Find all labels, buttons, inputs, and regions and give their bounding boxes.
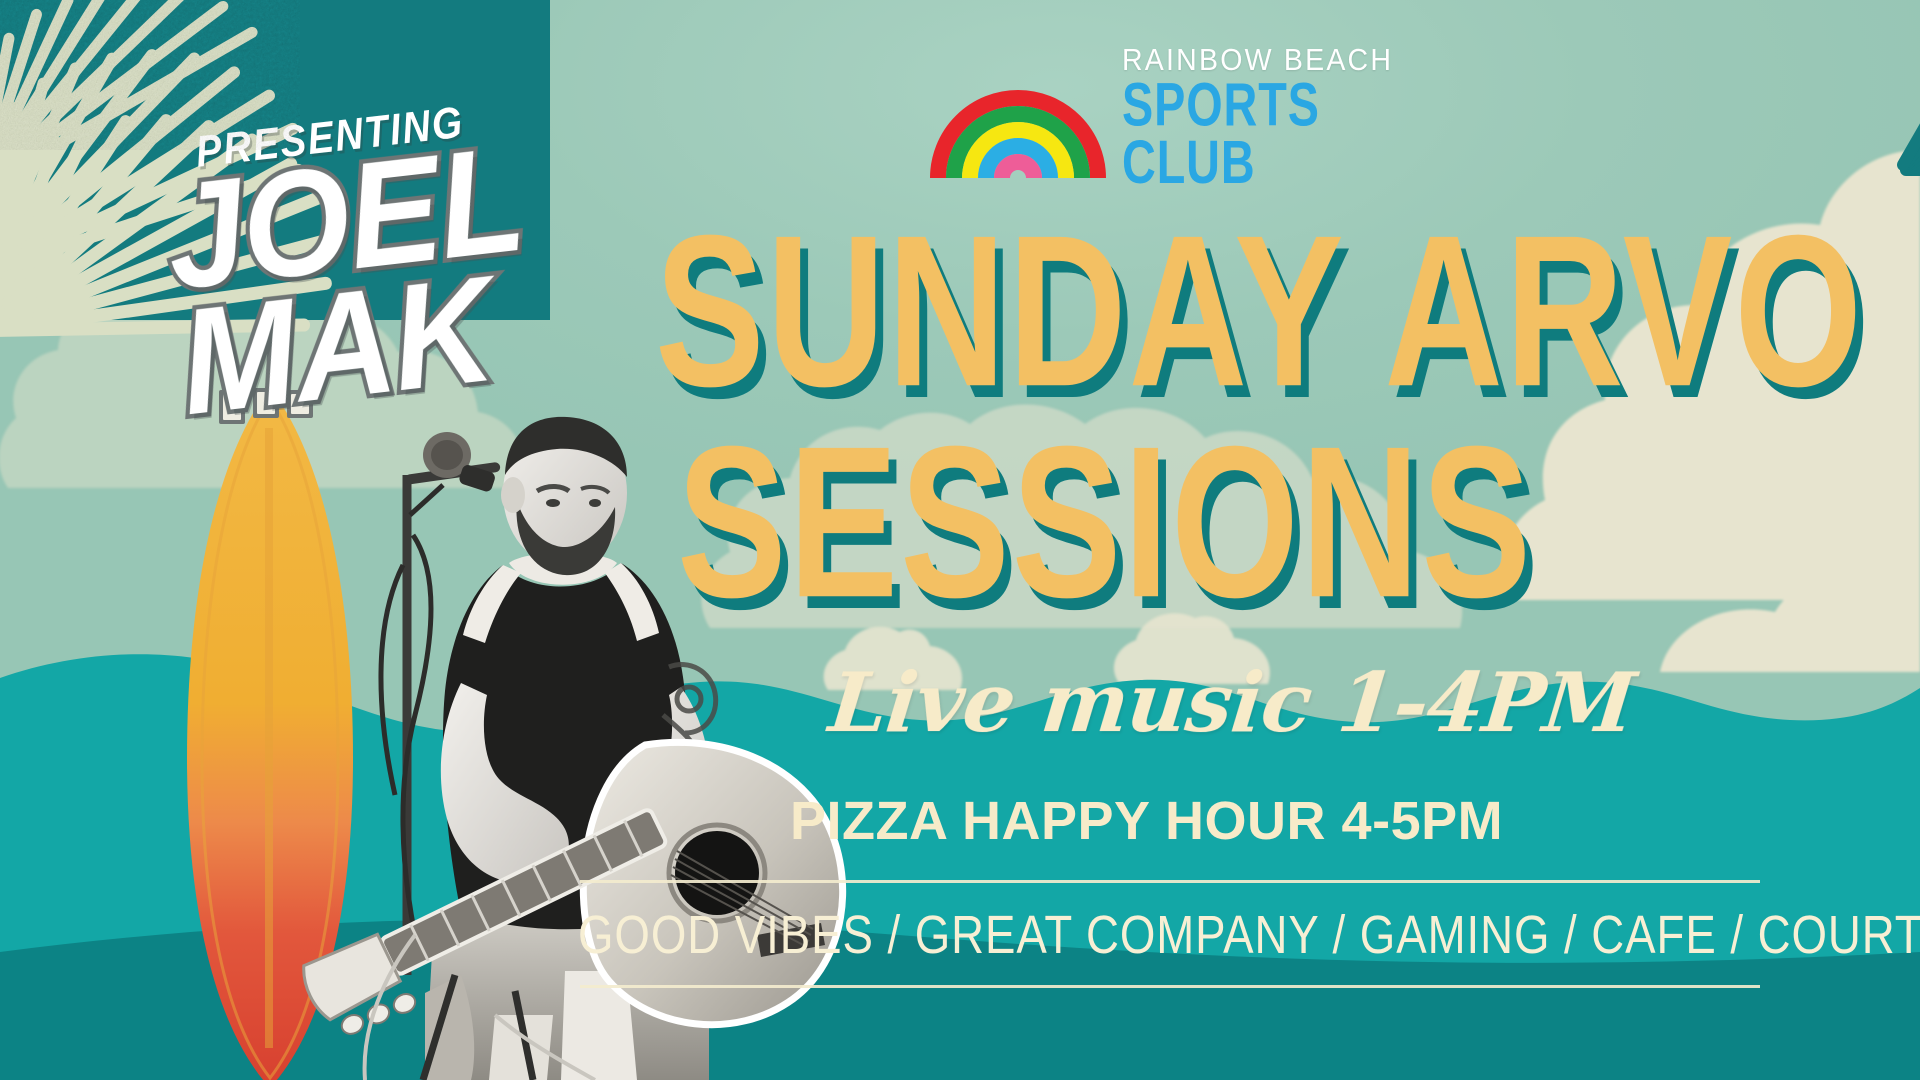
rainbow-icon <box>930 86 1106 178</box>
artist-name: JOEL MAK <box>160 130 582 425</box>
divider-bottom <box>580 985 1760 988</box>
divider-top <box>580 880 1760 883</box>
headline-line-2: SESSIONS <box>677 426 1873 620</box>
club-logo: RAINBOW BEACH SPORTS CLUB <box>930 78 1450 178</box>
event-headline: SUNDAY ARVO SESSIONS <box>655 215 1885 576</box>
logo-line-sports-club: SPORTS CLUB <box>1122 77 1417 194</box>
live-music-time: Live music 1-4PM <box>825 655 1639 751</box>
services-list: GOOD VIBES / GREAT COMPANY / GAMING / CA… <box>578 905 1709 967</box>
event-poster: RAINBOW BEACH SPORTS CLUB PRESENTING JOE… <box>0 0 1920 1080</box>
pizza-happy-hour: PIZZA HAPPY HOUR 4-5PM <box>790 790 1503 852</box>
headline-line-1: SUNDAY ARVO <box>655 215 1873 409</box>
